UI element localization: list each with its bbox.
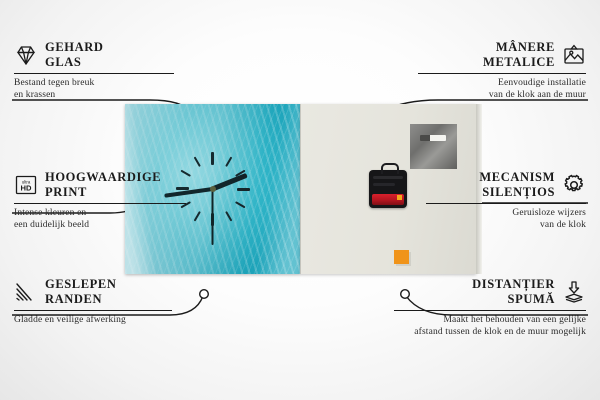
feature-gehard-glas: GEHARD GLAS Bestand tegen breuk en krass… xyxy=(14,40,174,101)
feature-heading: GESLEPEN RANDEN xyxy=(14,277,172,306)
connector-endpoint-geslepen-randen xyxy=(200,290,209,299)
hanger-slot xyxy=(420,135,446,141)
feature-mecanism-silentios: MECANISM SILENȚIOS Geruisloze wijzers va… xyxy=(426,170,586,231)
feature-heading: ultra HD HOOGWAARDIGE PRINT xyxy=(14,170,186,199)
diamond-icon xyxy=(14,43,38,67)
feature-title: DISTANȚIER SPUMĂ xyxy=(472,277,555,306)
feature-caption: Bestand tegen breuk en krassen xyxy=(14,77,174,101)
clock-second-hand xyxy=(212,189,214,245)
spacer-download-icon xyxy=(562,280,586,304)
battery xyxy=(372,194,404,205)
feature-hoogwaardige-print: ultra HD HOOGWAARDIGE PRINT Intense kleu… xyxy=(14,170,186,231)
ultra-hd-icon: ultra HD xyxy=(14,173,38,197)
feature-rule xyxy=(14,203,186,204)
clock-mechanism xyxy=(369,170,407,208)
bevelled-edge-icon xyxy=(14,280,38,304)
feature-caption: Gladde en veilige afwerking xyxy=(14,314,172,326)
feature-manere-metalice: MÂNERE METALICE Eenvoudige installatie v… xyxy=(418,40,586,101)
feature-rule xyxy=(394,310,586,311)
mechanism-stem xyxy=(381,163,399,174)
feature-rule xyxy=(418,73,586,74)
mechanism-ridge xyxy=(373,176,403,179)
feature-caption: Geruisloze wijzers van de klok xyxy=(426,207,586,231)
feature-title: GESLEPEN RANDEN xyxy=(45,277,117,306)
svg-text:HD: HD xyxy=(21,183,32,192)
clock-center-cap xyxy=(210,186,216,192)
feature-geslepen-randen: GESLEPEN RANDEN Gladde en veilige afwerk… xyxy=(14,277,172,326)
feature-title: GEHARD GLAS xyxy=(45,40,103,69)
metal-hanger xyxy=(410,124,457,169)
feature-title: MÂNERE METALICE xyxy=(483,40,555,69)
feature-heading: MÂNERE METALICE xyxy=(418,40,586,69)
clock-hour-hand xyxy=(212,173,248,191)
feature-title: HOOGWAARDIGE PRINT xyxy=(45,170,161,199)
feature-distantier-spuma: DISTANȚIER SPUMĂ Maakt het behouden van … xyxy=(394,277,586,338)
feature-rule xyxy=(14,310,172,311)
foam-spacer xyxy=(394,250,409,264)
feature-title: MECANISM SILENȚIOS xyxy=(479,170,555,199)
picture-frame-icon xyxy=(562,43,586,67)
mechanism-ridge-secondary xyxy=(373,183,395,186)
gear-icon xyxy=(562,173,586,197)
feature-caption: Eenvoudige installatie van de klok aan d… xyxy=(418,77,586,101)
feature-caption: Maakt het behouden van een gelijke afsta… xyxy=(394,314,586,338)
feature-heading: MECANISM SILENȚIOS xyxy=(426,170,586,199)
feature-rule xyxy=(14,73,174,74)
feature-rule xyxy=(426,203,586,204)
feature-caption: Intense kleuren en een duidelijk beeld xyxy=(14,207,186,231)
infographic-stage: GEHARD GLAS Bestand tegen breuk en krass… xyxy=(0,0,600,400)
feature-heading: GEHARD GLAS xyxy=(14,40,174,69)
feature-heading: DISTANȚIER SPUMĂ xyxy=(394,277,586,306)
